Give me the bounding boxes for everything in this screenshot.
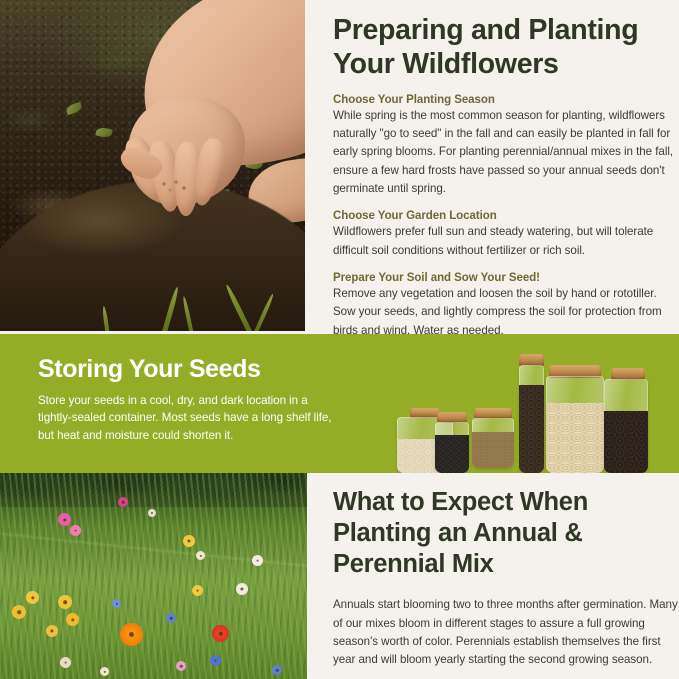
flower-icon bbox=[166, 613, 176, 623]
grass-texture bbox=[0, 473, 307, 679]
flower-icon bbox=[192, 585, 203, 596]
flower-icon bbox=[26, 591, 39, 604]
green-text-column: Storing Your Seeds Store your seeds in a… bbox=[38, 356, 334, 445]
seed-jar bbox=[604, 379, 648, 473]
wildflower-meadow-photo bbox=[0, 473, 307, 679]
section-heading-what-to-expect: What to Expect When Planting an Annual &… bbox=[333, 473, 679, 580]
flower-icon bbox=[272, 665, 282, 675]
flower-icon bbox=[66, 613, 79, 626]
subheading-prepare-soil: Prepare Your Soil and Sow Your Seed! bbox=[333, 272, 679, 284]
section-what-to-expect: What to Expect When Planting an Annual &… bbox=[0, 473, 679, 679]
seed-storage-jars-photo bbox=[388, 334, 679, 473]
subheading-garden-location: Choose Your Garden Location bbox=[333, 210, 679, 222]
flower-icon bbox=[120, 623, 143, 646]
text-block-prepare-soil: Prepare Your Soil and Sow Your Seed! Rem… bbox=[333, 272, 679, 340]
section-heading-storing: Storing Your Seeds bbox=[38, 356, 334, 384]
flower-icon bbox=[148, 509, 156, 517]
section-preparing-and-planting: Preparing and Planting Your Wildflowers … bbox=[0, 0, 679, 334]
body-garden-location: Wildflowers prefer full sun and steady w… bbox=[333, 223, 679, 260]
body-storing: Store your seeds in a cool, dry, and dar… bbox=[38, 392, 334, 446]
section-heading-preparing: Preparing and Planting Your Wildflowers bbox=[333, 0, 679, 82]
flower-icon bbox=[70, 525, 81, 536]
flower-icon bbox=[60, 657, 71, 668]
flower-icon bbox=[210, 655, 221, 666]
seed-jar bbox=[546, 376, 604, 473]
flower-icon bbox=[212, 625, 229, 642]
flower-icon bbox=[196, 551, 205, 560]
seed-jar bbox=[435, 422, 469, 473]
flower-icon bbox=[46, 625, 58, 637]
flower-icon bbox=[252, 555, 263, 566]
seed-jar bbox=[472, 418, 514, 468]
text-block-planting-season: Choose Your Planting Season While spring… bbox=[333, 94, 679, 199]
flower-icon bbox=[118, 497, 128, 507]
flower-icon bbox=[176, 661, 186, 671]
top-text-column: Preparing and Planting Your Wildflowers … bbox=[333, 0, 679, 340]
bottom-text-column: What to Expect When Planting an Annual &… bbox=[333, 473, 679, 670]
flower-icon bbox=[12, 605, 26, 619]
flower-icon bbox=[236, 583, 248, 595]
body-planting-season: While spring is the most common season f… bbox=[333, 107, 679, 199]
flower-icon bbox=[183, 535, 195, 547]
flower-icon bbox=[58, 595, 72, 609]
section-storing-your-seeds: Storing Your Seeds Store your seeds in a… bbox=[0, 334, 679, 473]
seed-jar bbox=[519, 365, 544, 473]
body-prepare-soil: Remove any vegetation and loosen the soi… bbox=[333, 285, 679, 340]
subheading-planting-season: Choose Your Planting Season bbox=[333, 94, 679, 106]
infographic-page: Preparing and Planting Your Wildflowers … bbox=[0, 0, 679, 679]
body-what-to-expect: Annuals start blooming two to three mont… bbox=[333, 596, 679, 669]
flower-icon bbox=[58, 513, 71, 526]
text-block-garden-location: Choose Your Garden Location Wildflowers … bbox=[333, 210, 679, 260]
seeds-in-hand bbox=[156, 176, 194, 196]
flower-icon bbox=[100, 667, 109, 676]
flower-icon bbox=[112, 599, 121, 608]
hand-sowing-seeds-in-soil-photo bbox=[0, 0, 305, 331]
